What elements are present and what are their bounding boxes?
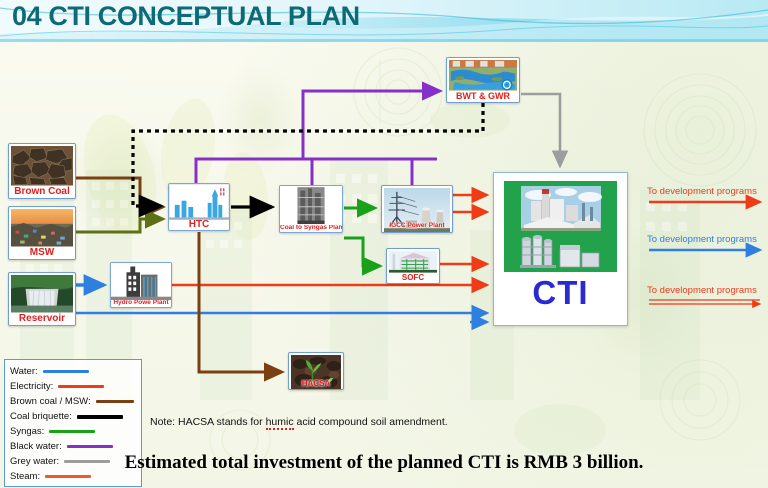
coal-photo-icon (11, 146, 73, 186)
output-label-2: To development programs (647, 234, 757, 245)
legend-swatch-water (43, 370, 89, 373)
node-hacsa[interactable]: HACSA (288, 352, 344, 390)
node-sofc-label: SOFC (389, 273, 437, 283)
dam-photo-icon (11, 275, 73, 313)
node-coal-to-syngas-plant-label: Coal to Syngas Plant (280, 225, 342, 232)
legend-swatch-steam (45, 475, 91, 478)
node-igcc-power-plant-label: IGCC Power Plant (382, 222, 452, 231)
legend-label-brown-coal-msw: Brown coal / MSW: (10, 396, 91, 407)
legend-label-water: Water: (10, 366, 38, 377)
node-reservoir[interactable]: Reservoir (8, 272, 76, 326)
legend-item-water: Water: (10, 364, 136, 379)
industrial-complex-photo-icon (504, 181, 617, 272)
node-hacsa-label: HACSA (289, 379, 343, 389)
legend-item-coal-briquette: Coal briquette: (10, 409, 136, 424)
note-underlined-word: humic (266, 416, 294, 430)
node-cti-label: CTI (532, 276, 588, 309)
output-label-3: To development programs (647, 285, 757, 296)
legend-swatch-brown-coal-msw (96, 400, 134, 403)
wire-blackwater-bus (196, 159, 437, 183)
water-treatment-photo-icon (449, 60, 517, 91)
node-reservoir-label: Reservoir (11, 313, 73, 326)
legend-swatch-black-water (67, 445, 113, 448)
node-igcc-power-plant[interactable]: IGCC Power Plant (381, 185, 453, 233)
node-msw[interactable]: MSW (8, 206, 76, 260)
legend-item-electricity: Electricity: (10, 379, 136, 394)
node-coal-to-syngas-plant[interactable]: Coal to Syngas Plant (279, 185, 343, 233)
node-bwt-gwr[interactable]: BWT & GWR (446, 57, 520, 103)
legend-label-coal-briquette: Coal briquette: (10, 411, 72, 422)
note-prefix: Note: HACSA stands for (150, 416, 266, 428)
legend-item-syngas: Syngas: (10, 424, 136, 439)
wire-msw-to-htc (76, 219, 163, 232)
legend-label-black-water: Black water: (10, 441, 62, 452)
legend-label-electricity: Electricity: (10, 381, 53, 392)
hydro-plant-icon (111, 263, 171, 300)
wire-greywater-bwt-to-cti (521, 94, 560, 166)
slide-canvas: 04 CTI CONCEPTUAL PLAN (0, 0, 768, 488)
wire-blackwater-to-bwt (303, 91, 440, 159)
note-suffix: acid compound soil amendment. (294, 416, 448, 428)
investment-statement: Estimated total investment of the planne… (0, 452, 768, 474)
gasifier-photo-icon (280, 186, 342, 225)
node-sofc[interactable]: SOFC (386, 248, 440, 284)
legend-swatch-coal-briquette (77, 415, 123, 419)
node-htc[interactable]: HTC (168, 183, 230, 231)
node-cti[interactable]: CTI (493, 172, 628, 326)
wire-brown-coal-to-htc (76, 178, 163, 207)
wire-syngas-to-sofc (344, 238, 380, 266)
note-text: Note: HACSA stands for humic acid compou… (150, 416, 448, 428)
node-hydro-power-plant[interactable]: Hydro Powe Plant (110, 262, 172, 308)
fuel-cell-photo-icon (389, 251, 437, 273)
node-htc-label: HTC (169, 220, 229, 231)
legend-swatch-electricity (58, 385, 104, 388)
node-msw-label: MSW (11, 247, 73, 260)
legend-swatch-syngas (49, 430, 95, 433)
legend-item-brown-coal-msw: Brown coal / MSW: (10, 394, 136, 409)
node-brown-coal-label: Brown Coal (11, 186, 73, 199)
wire-reservoir-water-to-cti (64, 313, 487, 326)
factory-chart-icon (169, 184, 229, 220)
wire-htc-to-hacsa (199, 232, 282, 372)
output-label-1: To development programs (647, 186, 757, 197)
node-bwt-gwr-label: BWT & GWR (449, 91, 517, 102)
landfill-photo-icon (11, 209, 73, 247)
node-hydro-power-plant-label: Hydro Powe Plant (111, 300, 171, 307)
legend-label-syngas: Syngas: (10, 426, 44, 437)
node-brown-coal[interactable]: Brown Coal (8, 143, 76, 199)
